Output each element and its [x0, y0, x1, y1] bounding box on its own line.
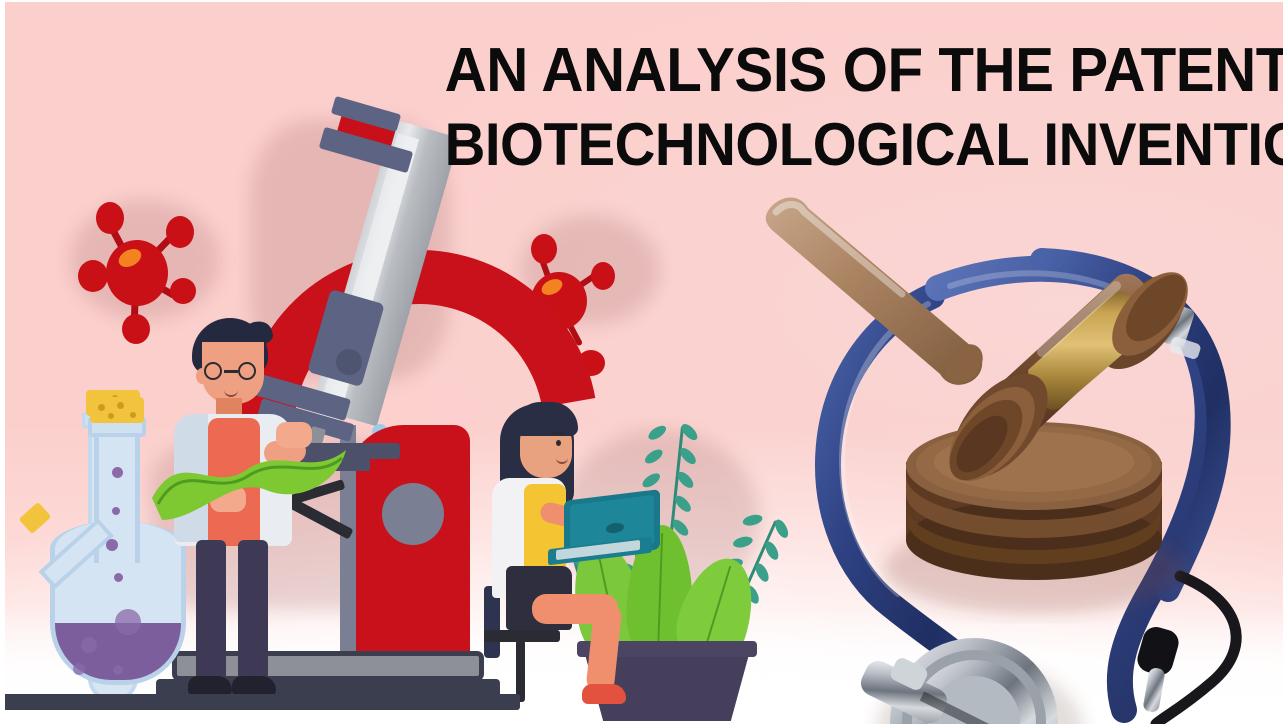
scientist-fringe [514, 402, 578, 436]
title-line-1: AN ANALYSIS OF THE PATENTABILITY OF [445, 34, 1216, 108]
title-line-2: BIOTECHNOLOGICAL INVENTION IN INDIA [445, 108, 1216, 182]
laptop-illustration [548, 495, 668, 575]
flask-side-cork [19, 502, 52, 534]
poster-canvas: AN ANALYSIS OF THE PATENTABILITY OF BIOT… [0, 0, 1288, 728]
scientist-eye [556, 440, 561, 446]
scientist-shoe [582, 684, 626, 704]
chair-leg [516, 640, 525, 702]
scientist-shoe [232, 676, 276, 696]
eyeglasses-icon [204, 362, 262, 380]
stethoscope-chestpiece [857, 638, 1084, 724]
scientist-brow [552, 432, 564, 435]
lab-bench-surface [0, 694, 520, 710]
gavel-sound-block [906, 422, 1162, 580]
leaf-icon [150, 428, 350, 524]
microscope-focus-knob [382, 483, 444, 545]
scientist-legs [194, 540, 274, 690]
gavel-and-stethoscope-photo [742, 176, 1282, 724]
flask-cork [90, 397, 144, 423]
green-leaf-specimen [150, 428, 350, 524]
page-title: AN ANALYSIS OF THE PATENTABILITY OF BIOT… [420, 34, 1240, 182]
scientist-shoe [188, 676, 232, 696]
